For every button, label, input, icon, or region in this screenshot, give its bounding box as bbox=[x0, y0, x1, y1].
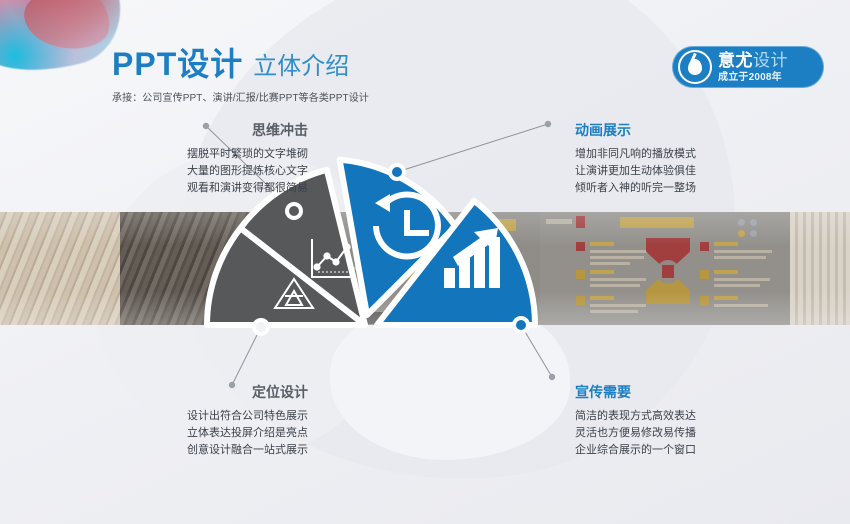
node-top-right[interactable] bbox=[388, 163, 406, 181]
callout-line: 灵活也方便易修改易传播 bbox=[575, 425, 805, 442]
callout-line: 让演讲更加生动体验俱佳 bbox=[575, 163, 805, 180]
callout-line: 立体表达投屏介绍是亮点 bbox=[82, 425, 308, 442]
callout-line: 摆脱平时繁琐的文字堆砌 bbox=[86, 146, 308, 163]
callout-line: 企业综合展示的一个窗口 bbox=[575, 442, 805, 459]
callout-top-left: 思维冲击 摆脱平时繁琐的文字堆砌 大量的图形提炼核心文字 观看和演讲变得都很简易 bbox=[86, 120, 308, 197]
callout-line: 设计出符合公司特色展示 bbox=[82, 408, 308, 425]
callout-line: 观看和演讲变得都很简易 bbox=[86, 180, 308, 197]
node-bottom-left[interactable] bbox=[252, 318, 270, 336]
callout-title: 思维冲击 bbox=[86, 120, 308, 140]
node-top-left[interactable] bbox=[285, 202, 303, 220]
callout-line: 创意设计融合一站式展示 bbox=[82, 442, 308, 459]
endpoint-bottom-right bbox=[549, 374, 555, 380]
callout-title: 定位设计 bbox=[82, 382, 308, 402]
callout-title: 宣传需要 bbox=[575, 382, 805, 402]
callout-line: 增加非同凡响的播放模式 bbox=[575, 146, 805, 163]
callout-line: 简洁的表现方式高效表达 bbox=[575, 408, 805, 425]
connector-top-right bbox=[397, 124, 548, 172]
endpoint-top-right bbox=[545, 121, 551, 127]
connector-bottom-right bbox=[521, 325, 552, 377]
callout-line: 大量的图形提炼核心文字 bbox=[86, 163, 308, 180]
connector-bottom-left bbox=[232, 327, 261, 385]
node-bottom-right[interactable] bbox=[512, 316, 530, 334]
callout-bottom-right: 宣传需要 简洁的表现方式高效表达 灵活也方便易修改易传播 企业综合展示的一个窗口 bbox=[575, 382, 805, 459]
callout-bottom-left: 定位设计 设计出符合公司特色展示 立体表达投屏介绍是亮点 创意设计融合一站式展示 bbox=[82, 382, 308, 459]
callout-title: 动画展示 bbox=[575, 120, 805, 140]
callout-line: 倾听者入神的听完一整场 bbox=[575, 180, 805, 197]
slide-canvas: PPT设计 立体介绍 承接：公司宣传PPT、演讲/汇报/比赛PPT等各类PPT设… bbox=[0, 0, 850, 524]
callout-top-right: 动画展示 增加非同凡响的播放模式 让演讲更加生动体验俱佳 倾听者入神的听完一整场 bbox=[575, 120, 805, 197]
